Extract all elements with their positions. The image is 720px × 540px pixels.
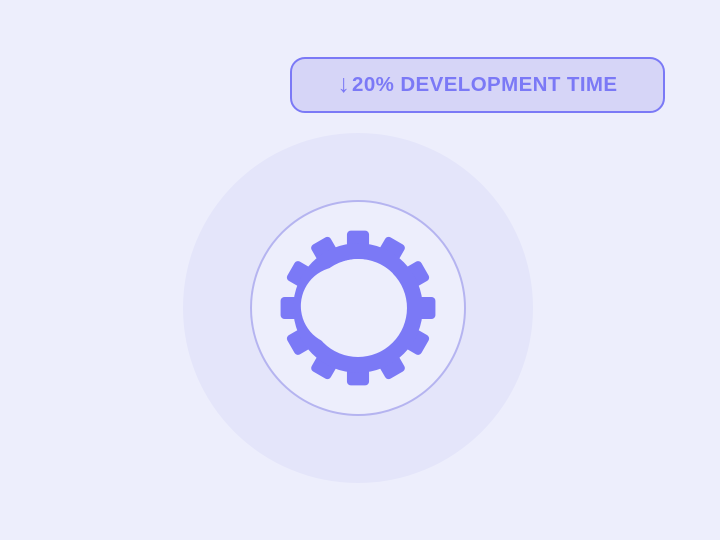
arrow-down-icon: ↓ bbox=[338, 72, 351, 97]
badge-label: 20% DEVELOPMENT TIME bbox=[352, 73, 617, 97]
slide-canvas: ↓ 20% DEVELOPMENT TIME bbox=[0, 0, 720, 540]
gear-speedometer-icon bbox=[279, 229, 437, 387]
development-time-badge[interactable]: ↓ 20% DEVELOPMENT TIME bbox=[290, 57, 665, 113]
speed-gear-illustration bbox=[183, 133, 533, 483]
